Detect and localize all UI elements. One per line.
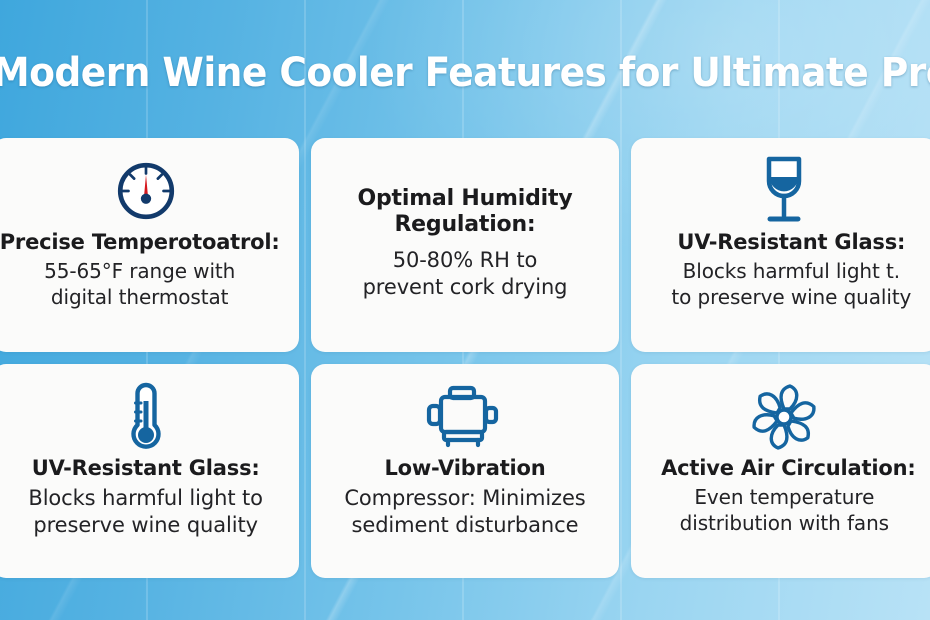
card-description-line: to preserve wine quality: [671, 285, 911, 311]
card-description: Compressor: Minimizes sediment disturban…: [344, 485, 585, 539]
feature-card-grid: Precise Temperotoatrol: 55-65°F range wi…: [0, 138, 930, 578]
card-text-block: Precise Temperotoatrol: 55-65°F range wi…: [2, 230, 289, 342]
fan-icon: [746, 378, 822, 456]
card-description-line: preserve wine quality: [28, 512, 263, 539]
card-description-line: distribution with fans: [680, 511, 889, 537]
card-description: Blocks harmful light t. to preserve wine…: [671, 259, 911, 310]
card-heading: Optimal Humidity Regulation:: [321, 186, 608, 237]
card-description-line: digital thermostat: [44, 285, 235, 311]
page-title: Modern Wine Cooler Features for Ultimate…: [0, 50, 930, 96]
card-text-block: Active Air Circulation: Even temperature…: [641, 456, 928, 568]
wine-glass-icon: [757, 152, 811, 230]
card-heading: Low-Vibration: [384, 456, 545, 480]
feature-card-optimal-humidity-regulation[interactable]: Optimal Humidity Regulation: 50-80% RH t…: [311, 138, 618, 352]
card-description-line: Blocks harmful light to: [28, 485, 263, 512]
card-description-line: 55-65°F range with: [44, 259, 235, 285]
card-description-line: prevent cork drying: [363, 274, 568, 301]
card-description: Blocks harmful light to preserve wine qu…: [28, 485, 263, 539]
card-description-line: 50-80% RH to: [363, 247, 568, 274]
card-text-block: Low-Vibration Compressor: Minimizes sedi…: [321, 456, 608, 568]
card-text-block: UV-Resistant Glass: Blocks harmful light…: [2, 456, 289, 568]
card-heading: Precise Temperotoatrol:: [0, 230, 280, 254]
card-description: Even temperature distribution with fans: [680, 485, 889, 536]
infographic-canvas: Modern Wine Cooler Features for Ultimate…: [0, 0, 930, 620]
card-heading: UV-Resistant Glass:: [32, 456, 260, 480]
compressor-icon: [419, 378, 511, 456]
thermometer-icon: [122, 378, 170, 456]
card-description-line: Blocks harmful light t.: [671, 259, 911, 285]
card-description: 55-65°F range with digital thermostat: [44, 259, 235, 310]
feature-card-active-air-circulation[interactable]: Active Air Circulation: Even temperature…: [631, 364, 930, 578]
feature-card-uv-resistant-glass-bottom[interactable]: UV-Resistant Glass: Blocks harmful light…: [0, 364, 299, 578]
title-banner: Modern Wine Cooler Features for Ultimate…: [0, 42, 930, 104]
feature-card-uv-resistant-glass-top[interactable]: UV-Resistant Glass: Blocks harmful light…: [631, 138, 930, 352]
feature-card-precise-temperature-control[interactable]: Precise Temperotoatrol: 55-65°F range wi…: [0, 138, 299, 352]
card-heading: UV-Resistant Glass:: [677, 230, 905, 254]
gauge-icon: [113, 152, 179, 230]
card-description-line: Compressor: Minimizes: [344, 485, 585, 512]
card-text-block: Optimal Humidity Regulation: 50-80% RH t…: [321, 186, 608, 342]
card-heading: Active Air Circulation:: [661, 456, 915, 480]
card-description-line: sediment disturbance: [344, 512, 585, 539]
card-text-block: UV-Resistant Glass: Blocks harmful light…: [641, 230, 928, 342]
card-description: 50-80% RH to prevent cork drying: [363, 247, 568, 301]
feature-card-low-vibration-compressor[interactable]: Low-Vibration Compressor: Minimizes sedi…: [311, 364, 618, 578]
card-description-line: Even temperature: [680, 485, 889, 511]
